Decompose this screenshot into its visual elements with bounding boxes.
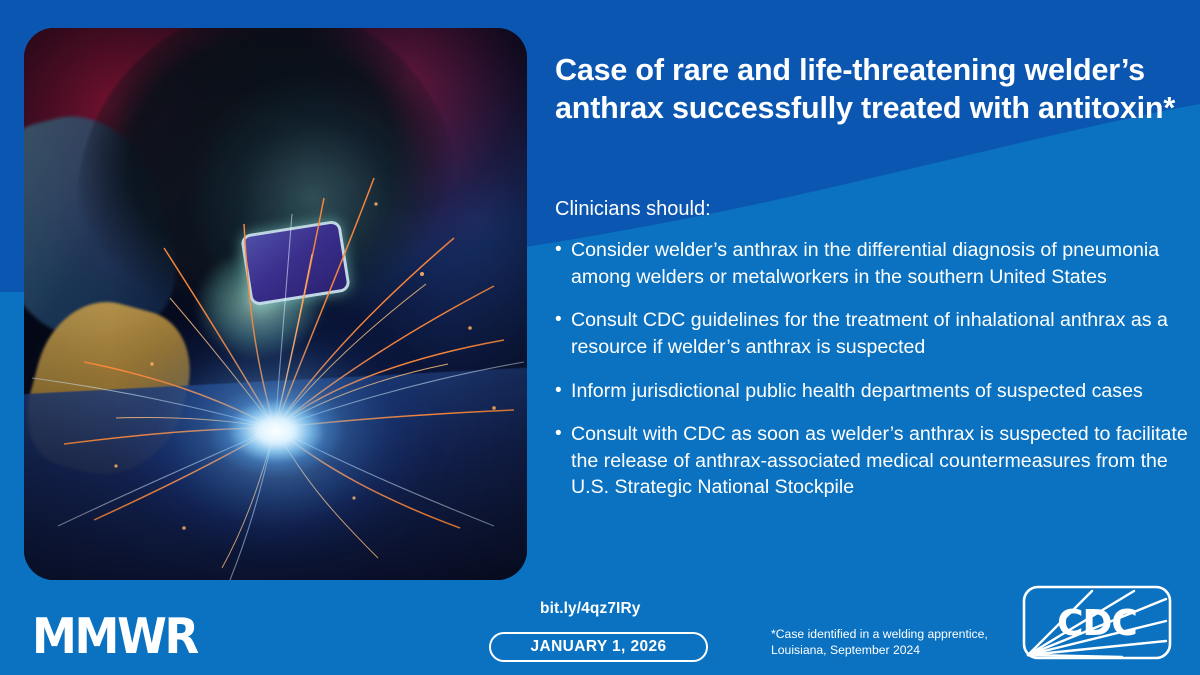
list-item-text: Inform jurisdictional public health depa… — [571, 378, 1191, 405]
bullet-dot-icon: • — [555, 421, 571, 501]
short-url-link[interactable]: bit.ly/4qz7IRy — [540, 600, 640, 618]
photo-vignette — [24, 28, 527, 580]
list-item: • Consult with CDC as soon as welder’s a… — [555, 421, 1191, 501]
recommendations-list: • Consider welder’s anthrax in the diffe… — [555, 237, 1191, 501]
footnote-text: *Case identified in a welding apprentice… — [771, 626, 1001, 658]
list-item-text: Consult CDC guidelines for the treatment… — [571, 307, 1191, 360]
lead-text: Clinicians should: — [555, 196, 1185, 222]
list-item: • Consider welder’s anthrax in the diffe… — [555, 237, 1191, 290]
list-item-text: Consult with CDC as soon as welder’s ant… — [571, 421, 1191, 501]
date-badge: JANUARY 1, 2026 — [489, 632, 708, 662]
list-item: • Consult CDC guidelines for the treatme… — [555, 307, 1191, 360]
cdc-logo-icon: CDC — [1022, 585, 1172, 660]
bullet-dot-icon: • — [555, 237, 571, 290]
bullet-dot-icon: • — [555, 378, 571, 405]
infographic-canvas: Case of rare and life-threatening welder… — [0, 0, 1200, 675]
mmwr-wordmark-icon: MMWR — [32, 608, 197, 665]
bullet-dot-icon: • — [555, 307, 571, 360]
list-item-text: Consider welder’s anthrax in the differe… — [571, 237, 1191, 290]
list-item: • Inform jurisdictional public health de… — [555, 378, 1191, 405]
welding-photo — [24, 28, 527, 580]
svg-text:CDC: CDC — [1057, 603, 1137, 644]
page-title: Case of rare and life-threatening welder… — [555, 52, 1187, 128]
